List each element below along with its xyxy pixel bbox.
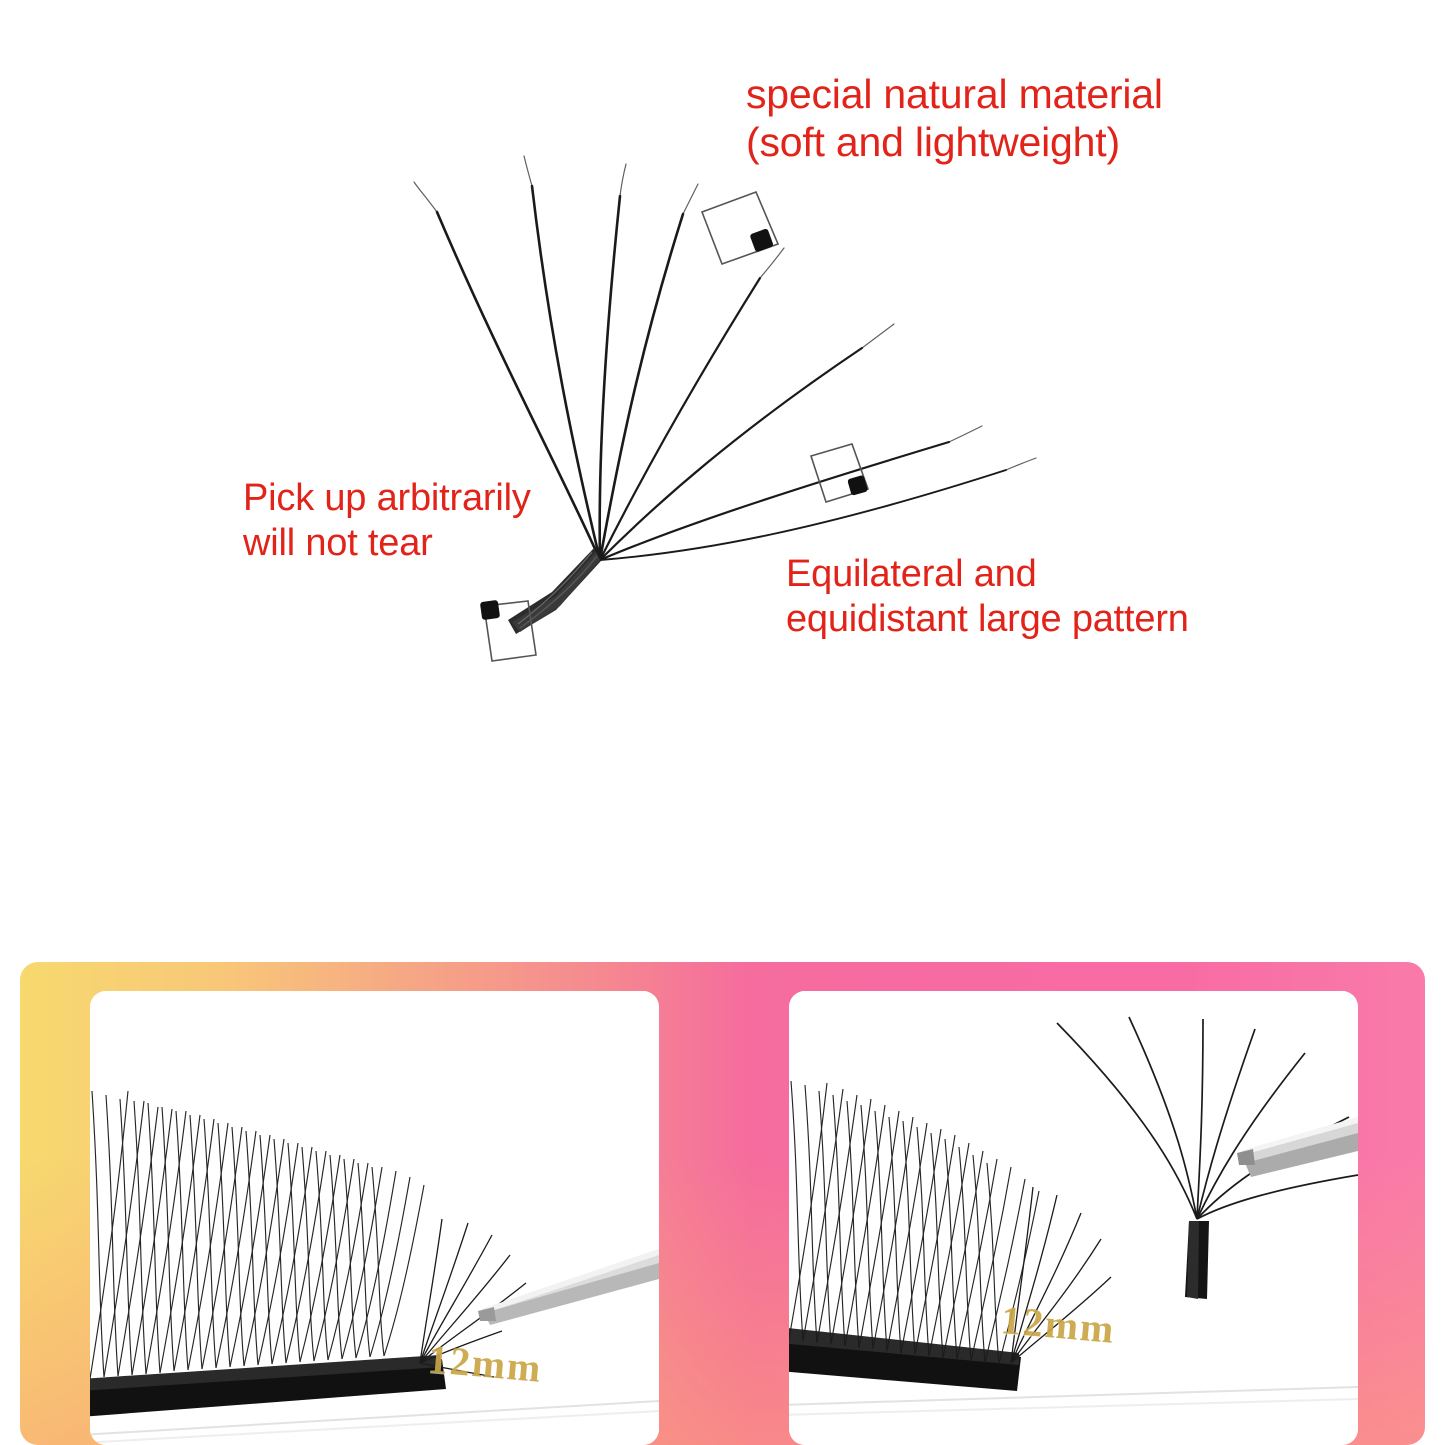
callout-special-natural-material: special natural material (soft and light… [746, 70, 1163, 167]
banner-subheadline: No skills needed.Get blooming lash effec… [0, 849, 1445, 892]
photo-card-lash-strip: 12mm [90, 991, 659, 1445]
lash-fan-illustration [0, 0, 1445, 737]
callout-pick-up-arbitrarily: Pick up arbitrarily will not tear [243, 476, 531, 566]
photo-card-single-fan: 12mm [789, 991, 1358, 1445]
lash-strip-photo [90, 991, 659, 1445]
easy-to-use-banner: EASY TO USE & SAVING TIME No skills need… [0, 737, 1445, 941]
lash-length-label-left: 12mm [426, 1335, 544, 1392]
lash-length-label-right: 12mm [999, 1296, 1117, 1353]
product-photo-panel: 12mm [20, 962, 1425, 1445]
marker-mid-right-icon [811, 444, 868, 502]
marker-top-right-icon [702, 192, 778, 264]
single-fan-photo [789, 991, 1358, 1445]
banner-headline: EASY TO USE & SAVING TIME [0, 755, 1445, 829]
lash-fan-feature-diagram: special natural material (soft and light… [0, 0, 1445, 737]
callout-equilateral-equidistant: Equilateral and equidistant large patter… [786, 552, 1189, 642]
